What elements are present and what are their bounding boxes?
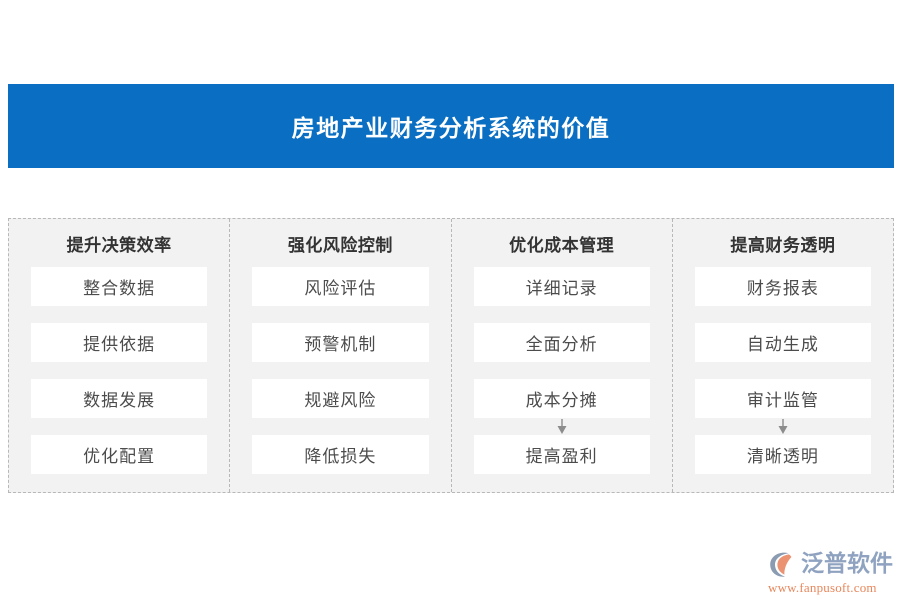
card-gap — [31, 362, 207, 379]
card-slot: 财务报表 — [695, 267, 871, 323]
column-header: 优化成本管理 — [474, 219, 650, 267]
slide-canvas: 房地产业财务分析系统的价值 提升决策效率 整合数据 提供依据 数据发展 — [0, 0, 902, 603]
card-slot: 自动生成 — [695, 323, 871, 379]
card-item[interactable]: 整合数据 — [31, 267, 207, 306]
card-list: 详细记录 全面分析 成本分摊 提 — [474, 267, 650, 492]
logo-url-text: www.fanpusoft.com — [768, 580, 892, 596]
card-item[interactable]: 规避风险 — [252, 379, 428, 418]
column-financial-transparency: 提高财务透明 财务报表 自动生成 审计监管 — [672, 219, 893, 492]
card-item[interactable]: 清晰透明 — [695, 435, 871, 474]
card-gap — [31, 306, 207, 323]
card-list: 整合数据 提供依据 数据发展 优化配置 — [31, 267, 207, 492]
column-cost-management: 优化成本管理 详细记录 全面分析 成本分摊 — [451, 219, 672, 492]
card-slot: 预警机制 — [252, 323, 428, 379]
card-item[interactable]: 数据发展 — [31, 379, 207, 418]
logo-brand-text: 泛普软件 — [801, 550, 893, 578]
card-slot: 成本分摊 — [474, 379, 650, 435]
card-item[interactable]: 降低损失 — [252, 435, 428, 474]
card-slot: 提高盈利 — [474, 435, 650, 486]
card-item[interactable]: 成本分摊 — [474, 379, 650, 418]
fanpu-logo-icon — [768, 550, 798, 579]
card-gap — [252, 418, 428, 435]
card-item[interactable]: 自动生成 — [695, 323, 871, 362]
card-slot: 降低损失 — [252, 435, 428, 486]
column-risk-control: 强化风险控制 风险评估 预警机制 规避风险 降低损失 — [229, 219, 450, 492]
logo-row: 泛普软件 — [768, 549, 892, 579]
card-item[interactable]: 预警机制 — [252, 323, 428, 362]
card-slot: 审计监管 — [695, 379, 871, 435]
card-list: 财务报表 自动生成 审计监管 清 — [695, 267, 871, 492]
card-slot: 优化配置 — [31, 435, 207, 486]
card-slot: 数据发展 — [31, 379, 207, 435]
card-gap — [695, 362, 871, 379]
card-item[interactable]: 风险评估 — [252, 267, 428, 306]
card-item[interactable]: 提高盈利 — [474, 435, 650, 474]
card-item[interactable]: 提供依据 — [31, 323, 207, 362]
card-slot: 规避风险 — [252, 379, 428, 435]
card-gap — [31, 418, 207, 435]
brand-logo: 泛普软件 www.fanpusoft.com — [768, 549, 892, 597]
card-slot: 整合数据 — [31, 267, 207, 323]
card-gap — [474, 306, 650, 323]
column-decision-efficiency: 提升决策效率 整合数据 提供依据 数据发展 优化配置 — [9, 219, 229, 492]
arrow-down-icon — [777, 419, 789, 435]
title-banner: 房地产业财务分析系统的价值 — [8, 84, 894, 168]
card-gap-with-arrow — [695, 418, 871, 435]
card-item[interactable]: 审计监管 — [695, 379, 871, 418]
card-gap — [252, 362, 428, 379]
card-item[interactable]: 详细记录 — [474, 267, 650, 306]
card-slot: 详细记录 — [474, 267, 650, 323]
card-gap — [252, 306, 428, 323]
card-item[interactable]: 优化配置 — [31, 435, 207, 474]
card-list: 风险评估 预警机制 规避风险 降低损失 — [252, 267, 428, 492]
card-item[interactable]: 财务报表 — [695, 267, 871, 306]
card-slot: 风险评估 — [252, 267, 428, 323]
card-slot: 全面分析 — [474, 323, 650, 379]
card-slot: 提供依据 — [31, 323, 207, 379]
page-title: 房地产业财务分析系统的价值 — [292, 109, 611, 143]
arrow-down-icon — [556, 419, 568, 435]
card-gap-with-arrow — [474, 418, 650, 435]
card-slot: 清晰透明 — [695, 435, 871, 486]
columns-container: 提升决策效率 整合数据 提供依据 数据发展 优化配置 — [8, 218, 894, 493]
card-gap — [695, 306, 871, 323]
card-gap — [474, 362, 650, 379]
column-header: 强化风险控制 — [252, 219, 428, 267]
column-header: 提升决策效率 — [31, 219, 207, 267]
column-header: 提高财务透明 — [695, 219, 871, 267]
card-item[interactable]: 全面分析 — [474, 323, 650, 362]
